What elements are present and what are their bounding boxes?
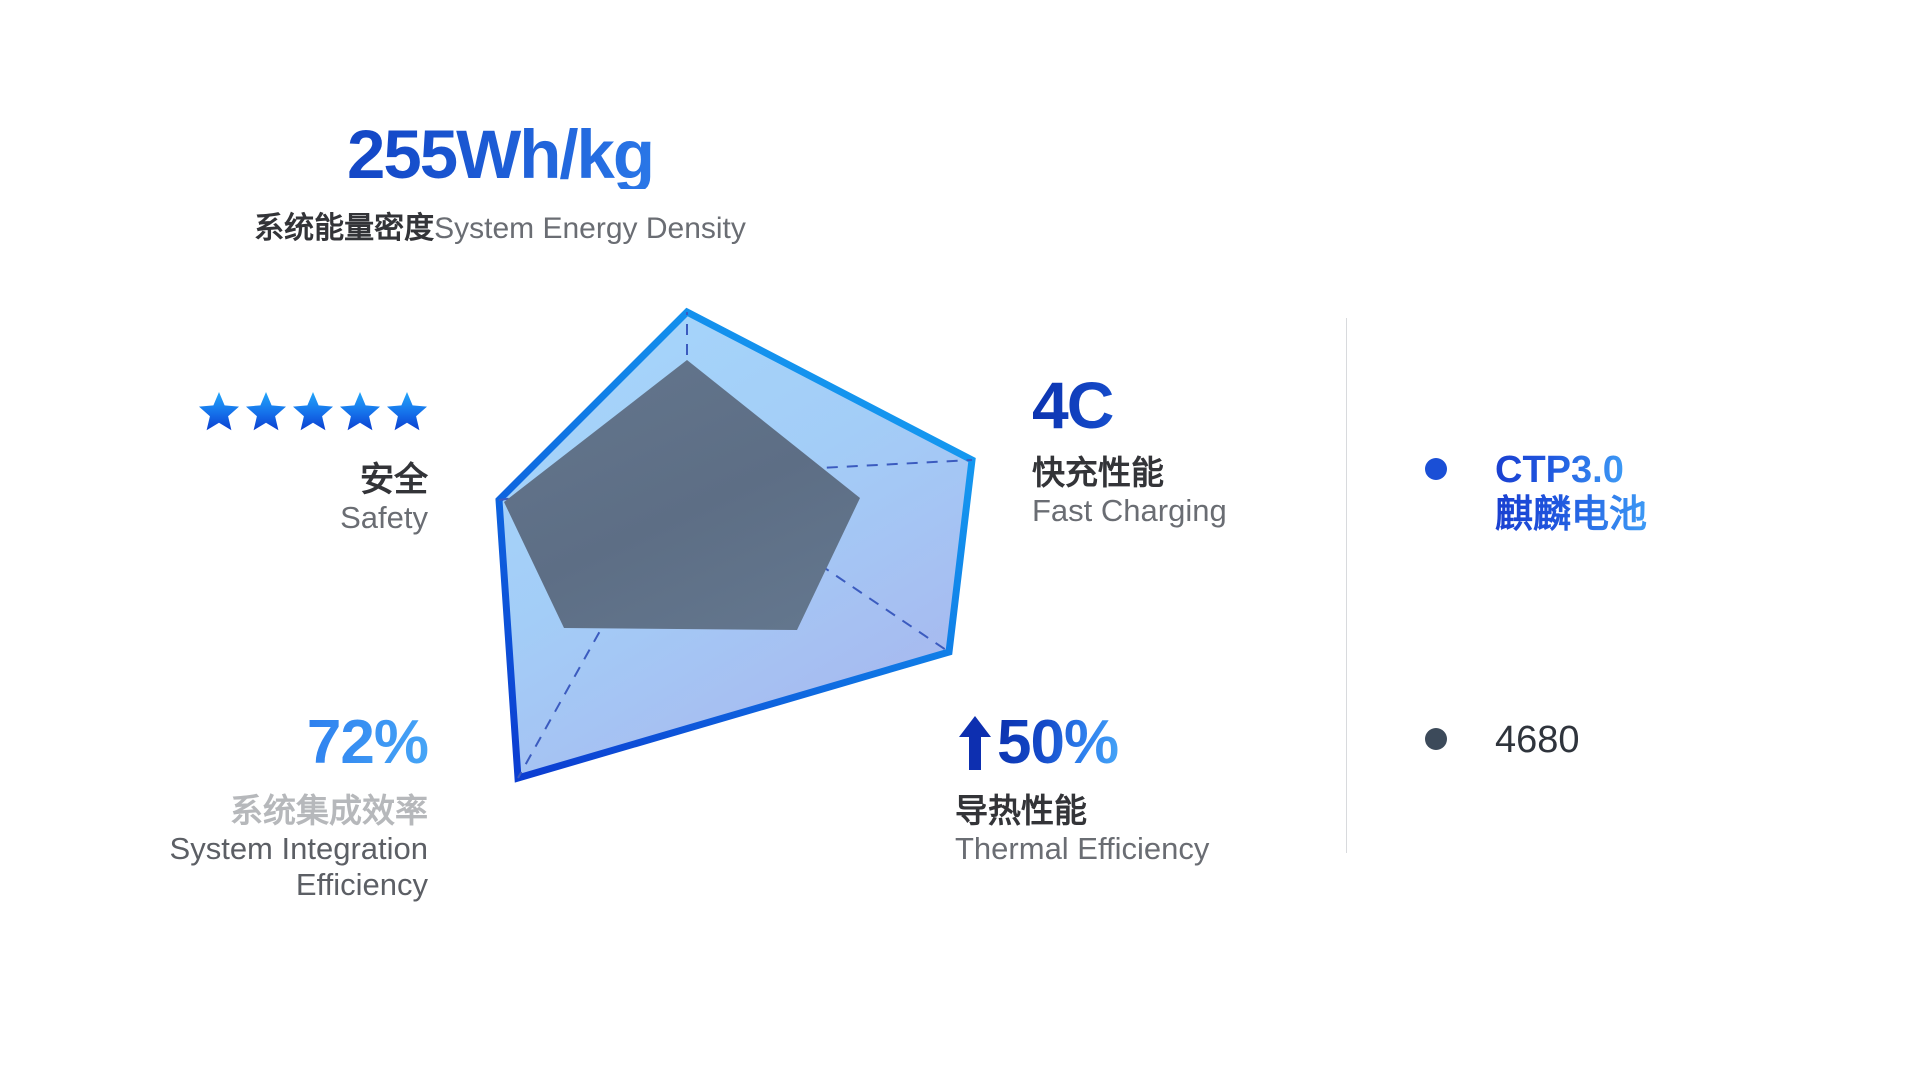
metric-fast-charging: 4C 快充性能 Fast Charging (1032, 372, 1227, 530)
fast-charging-label-en: Fast Charging (1032, 493, 1227, 530)
legend-label-ctp30-line2: 麒麟电池 (1495, 494, 1647, 536)
chart-legend: CTP3.0 麒麟电池 4680 (1425, 448, 1647, 762)
legend-label-ctp30-line1: CTP3.0 (1495, 449, 1624, 491)
thermal-efficiency-label-en: Thermal Efficiency (955, 831, 1209, 868)
fast-charging-value: 4C (1032, 372, 1227, 438)
safety-label-en: Safety (0, 500, 428, 537)
metric-energy-density: 255Wh/kg 系统能量密度System Energy Density (0, 120, 1000, 247)
legend-label-ctp30: CTP3.0 麒麟电池 (1495, 448, 1647, 538)
energy-density-value: 255Wh/kg (0, 120, 1000, 189)
star-icon (387, 392, 427, 430)
vertical-divider (1346, 318, 1347, 853)
metric-thermal-efficiency: 50% 导热性能 Thermal Efficiency (955, 712, 1209, 868)
fast-charging-label-cn: 快充性能 (1032, 454, 1227, 493)
star-icon (340, 392, 380, 430)
star-icon (199, 392, 239, 430)
star-icon-group (198, 390, 428, 434)
energy-density-label: 系统能量密度System Energy Density (0, 203, 1000, 247)
star-icon (293, 392, 333, 430)
system-integration-label-cn: 系统集成效率 (0, 792, 428, 831)
energy-density-label-cn: 系统能量密度 (254, 212, 434, 245)
legend-label-4680-line1: 4680 (1495, 719, 1580, 761)
thermal-efficiency-label-cn: 导热性能 (955, 792, 1209, 831)
system-integration-value: 72% (0, 712, 428, 774)
legend-dot-4680 (1425, 728, 1447, 750)
thermal-value-row: 50% (955, 712, 1209, 774)
legend-item-4680[interactable]: 4680 (1425, 718, 1647, 763)
legend-label-4680: 4680 (1495, 718, 1580, 763)
safety-label-cn: 安全 (0, 460, 428, 500)
radar-chart (460, 280, 1020, 840)
metric-system-integration: 72% 系统集成效率 System Integration Efficiency (0, 712, 428, 903)
star-icon (246, 392, 286, 430)
system-integration-label-en-line1: System Integration (0, 831, 428, 867)
infographic-canvas: 255Wh/kg 系统能量密度System Energy Density (0, 0, 1920, 1080)
energy-density-label-en: System Energy Density (434, 212, 746, 245)
legend-dot-ctp30 (1425, 458, 1447, 480)
metric-safety: 安全 Safety (0, 390, 428, 537)
thermal-efficiency-value: 50% (997, 712, 1118, 774)
system-integration-label-en-line2: Efficiency (0, 867, 428, 903)
safety-star-rating (0, 390, 428, 434)
up-arrow-icon (955, 713, 995, 773)
legend-item-ctp30[interactable]: CTP3.0 麒麟电池 (1425, 448, 1647, 538)
